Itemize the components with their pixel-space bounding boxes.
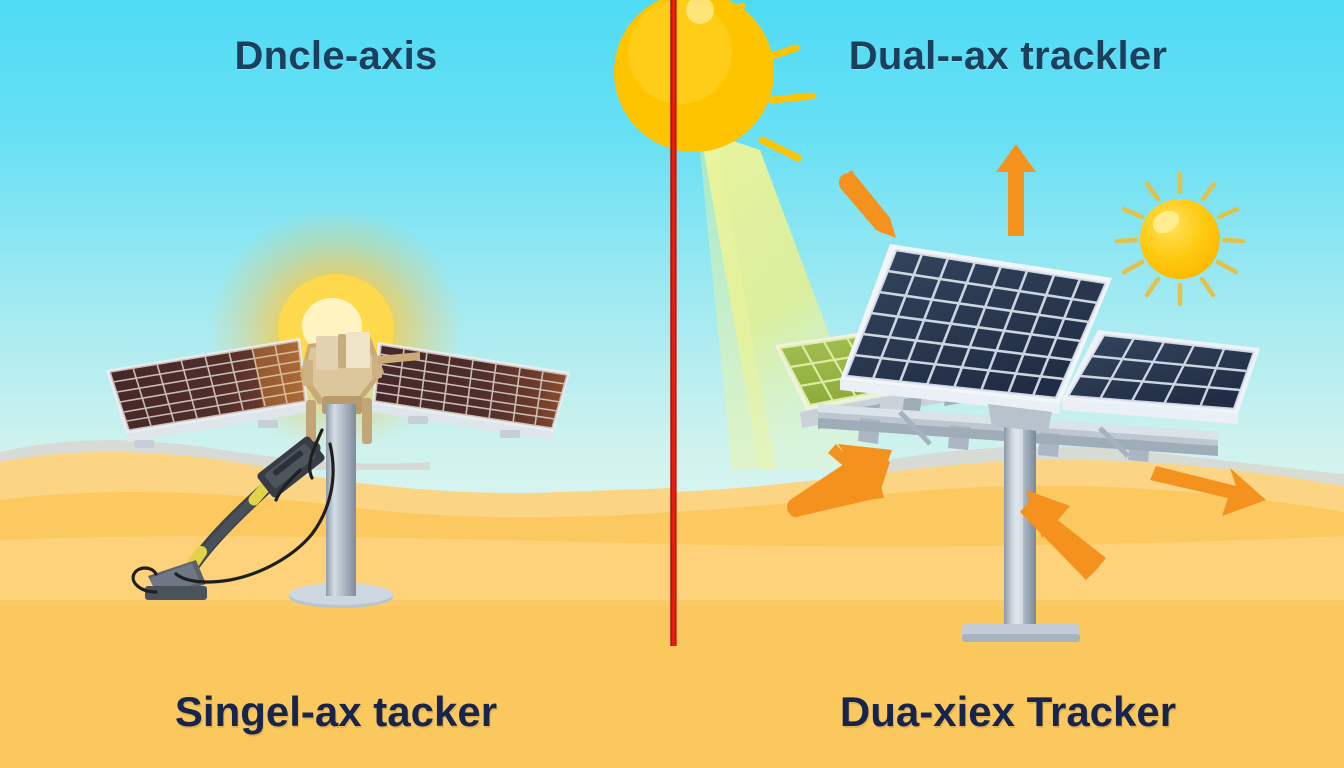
caption-right: Dua-xiex Tracker xyxy=(672,688,1344,736)
caption-left: Singel-ax tacker xyxy=(0,688,672,736)
vertical-red-divider xyxy=(0,0,1344,768)
heading-right: Dual--ax trackler xyxy=(672,34,1344,79)
comparison-infographic: Dncle-axis Dual--ax trackler Singel-ax t… xyxy=(0,0,1344,768)
heading-left: Dncle-axis xyxy=(0,34,672,79)
